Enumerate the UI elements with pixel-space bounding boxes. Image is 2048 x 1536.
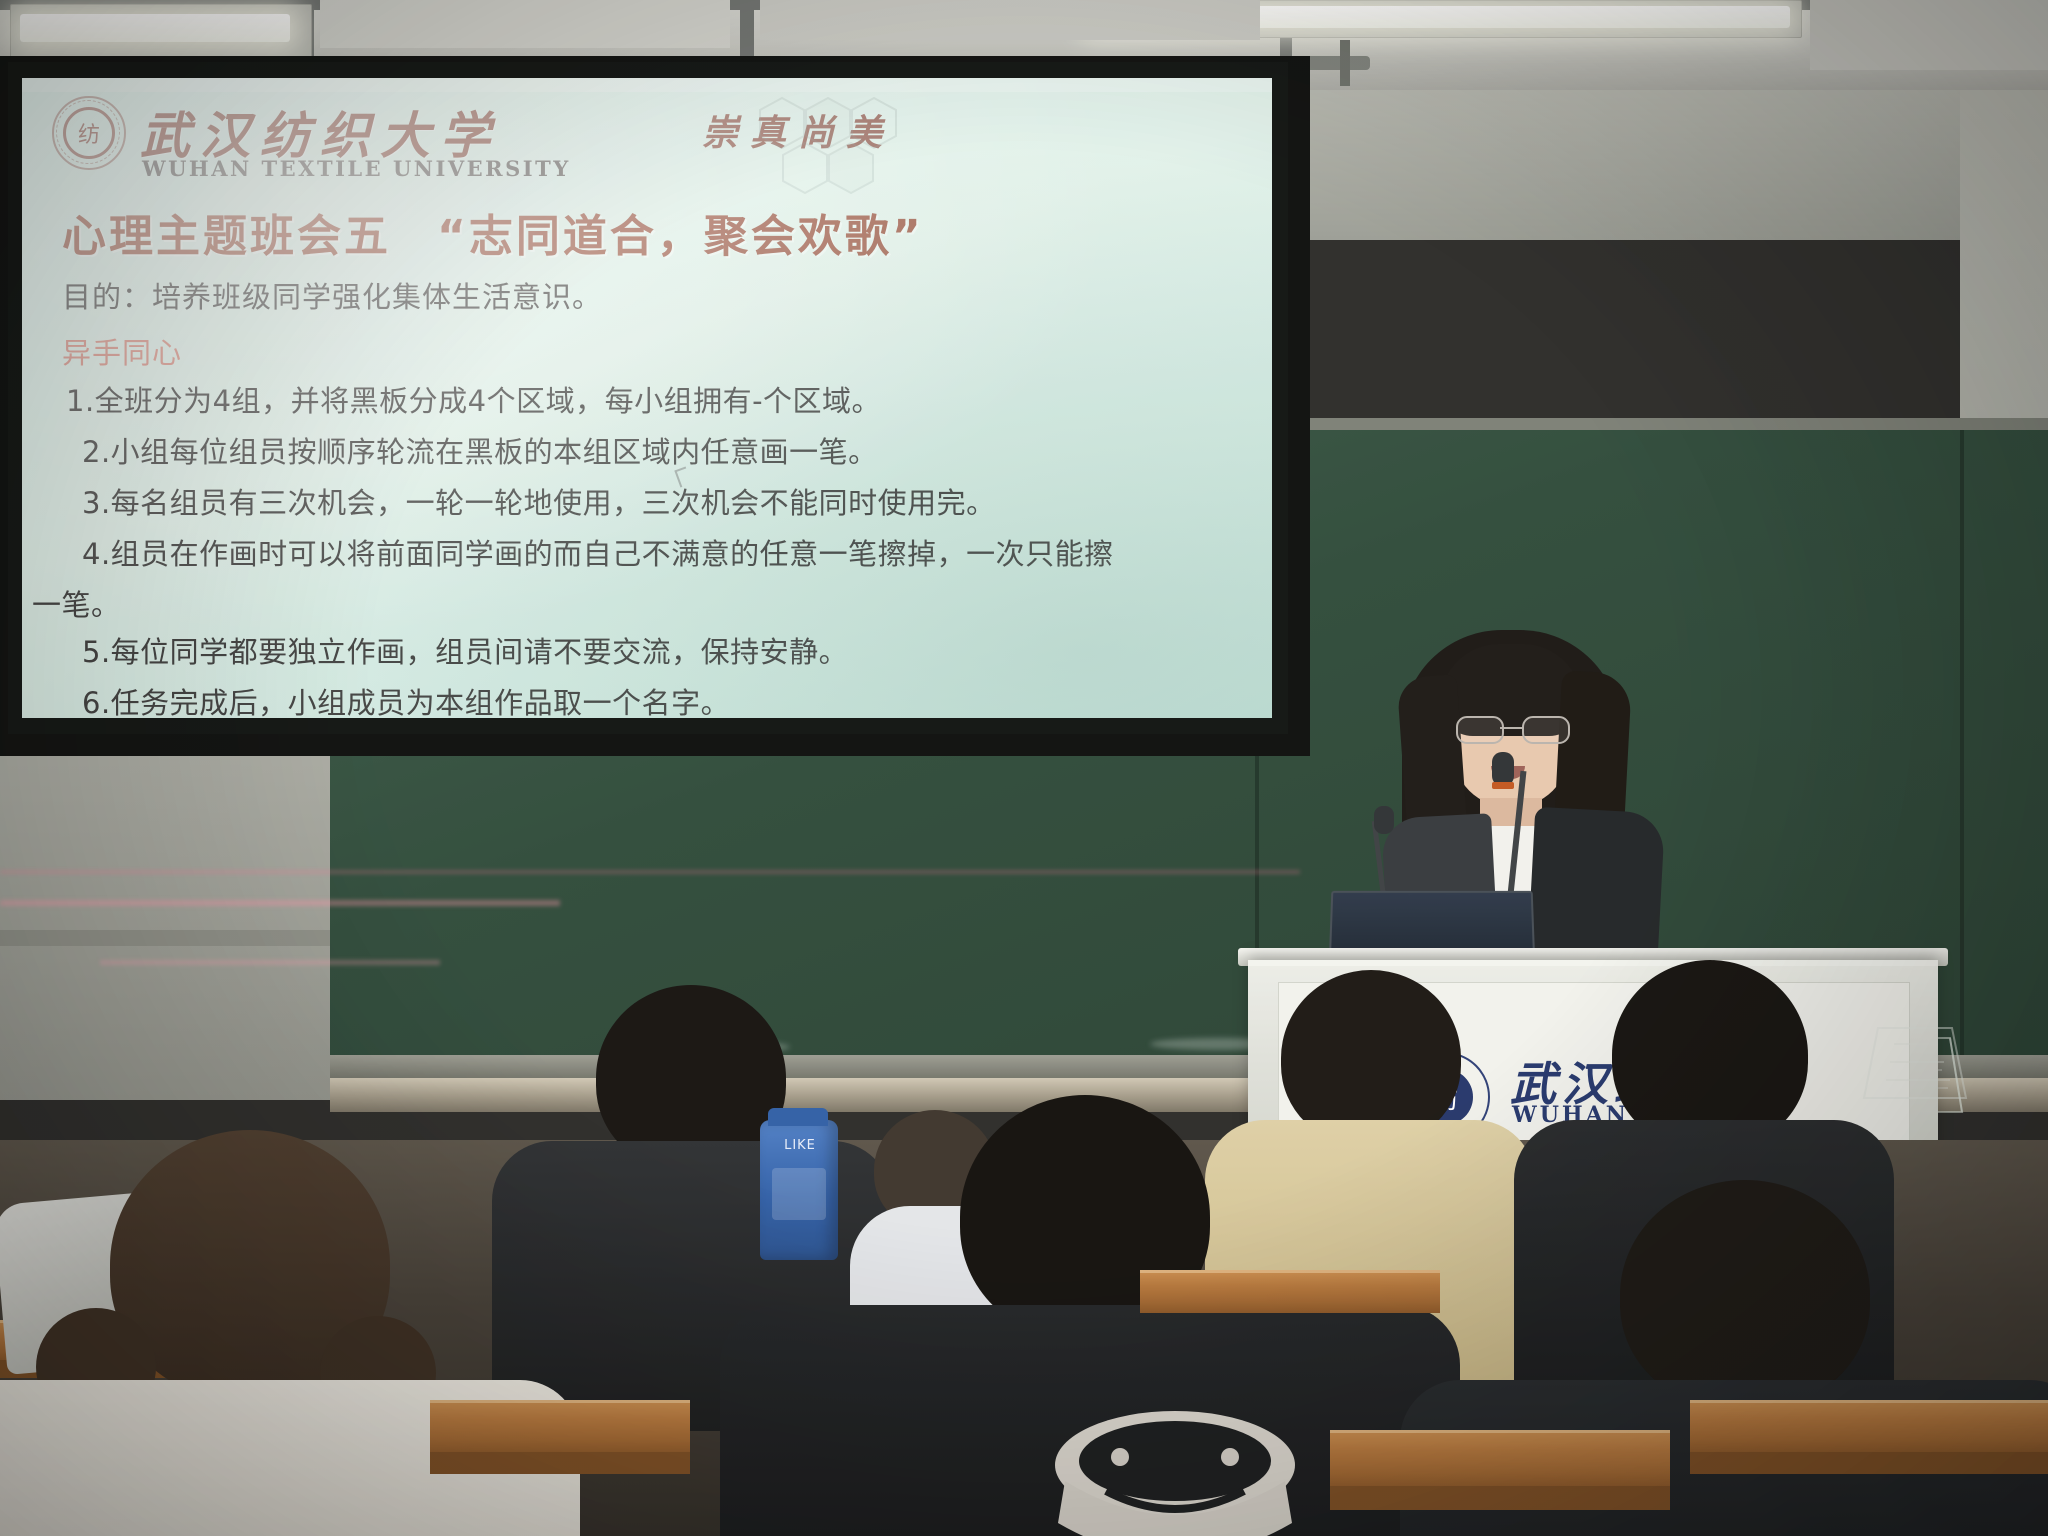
slide-title: 心理主题班会五“志同道合，聚会欢歌”: [62, 200, 1232, 264]
hexagon-decoration-icon: [742, 88, 942, 208]
desk: [1690, 1400, 2048, 1455]
ceiling-panel: [1810, 0, 2048, 70]
university-logo-ring: [56, 100, 120, 164]
list-item: 6.任务完成后，小组成员为本组作品取一个名字。: [66, 680, 1246, 718]
ceiling-panel: [760, 0, 1260, 40]
ceiling-panel: [320, 0, 730, 48]
microphone-ring: [1492, 782, 1514, 789]
classroom-scene: 三基楼辅 纺 武汉纺织大学 WUHAN TEXTILE UNIVERSITY 崇…: [0, 0, 2048, 1536]
student: [0, 1130, 520, 1536]
chalkboard-divider: [1960, 430, 1964, 1070]
list-item: 3.每名组员有三次机会，一轮一轮地使用，三次机会不能同时使用完。: [66, 480, 1246, 527]
presentation-slide: 纺 武汉纺织大学 WUHAN TEXTILE UNIVERSITY 崇真尚美 心…: [22, 78, 1272, 718]
list-item-wrap: 一笔。: [32, 582, 1246, 629]
student: [760, 1095, 1420, 1536]
slide-purpose-line: 目的：培养班级同学强化集体生活意识。: [62, 274, 602, 316]
list-item: 4.组员在作画时可以将前面同学画的而自己不满意的任意一笔擦掉，一次只能擦: [66, 531, 1246, 578]
list-item: 2.小组每位组员按顺序轮流在黑板的本组区域内任意画一笔。: [66, 429, 1246, 476]
slide-title-main: 心理主题班会五: [62, 211, 391, 262]
eyeglasses-icon: [1456, 716, 1566, 742]
light-streak: [0, 900, 560, 906]
desk-edge: [1690, 1452, 2048, 1474]
light-streak: [0, 870, 1300, 874]
slide-activity-name: 异手同心: [62, 330, 182, 372]
desk: [1140, 1270, 1440, 1313]
student-head: [1620, 1180, 1870, 1410]
desk: [1330, 1430, 1670, 1489]
microphone-icon: [1492, 752, 1514, 786]
slide-title-quote: “志同道合，聚会欢歌”: [437, 211, 924, 262]
screen-glare: [22, 78, 1272, 92]
slide-rules-list: 1.全班分为4组，并将黑板分成4个区域，每小组拥有-个区域。 2.小组每位组员按…: [66, 378, 1246, 718]
fluorescent-light: [20, 14, 290, 42]
microphone-icon-2: [1374, 806, 1394, 834]
list-item: 1.全班分为4组，并将黑板分成4个区域，每小组拥有-个区域。: [66, 378, 1246, 425]
desk-edge: [1330, 1486, 1670, 1510]
desk-edge: [430, 1452, 690, 1474]
hoodie-graphic-icon: [1010, 1395, 1340, 1536]
projector-mount: [1340, 40, 1350, 86]
desk: [430, 1400, 690, 1455]
slide-university-name-en: WUHAN TEXTILE UNIVERSITY: [142, 156, 571, 181]
light-streak: [100, 960, 440, 965]
list-item: 5.每位同学都要独立作画，组员间请不要交流，保持安静。: [66, 629, 1246, 676]
